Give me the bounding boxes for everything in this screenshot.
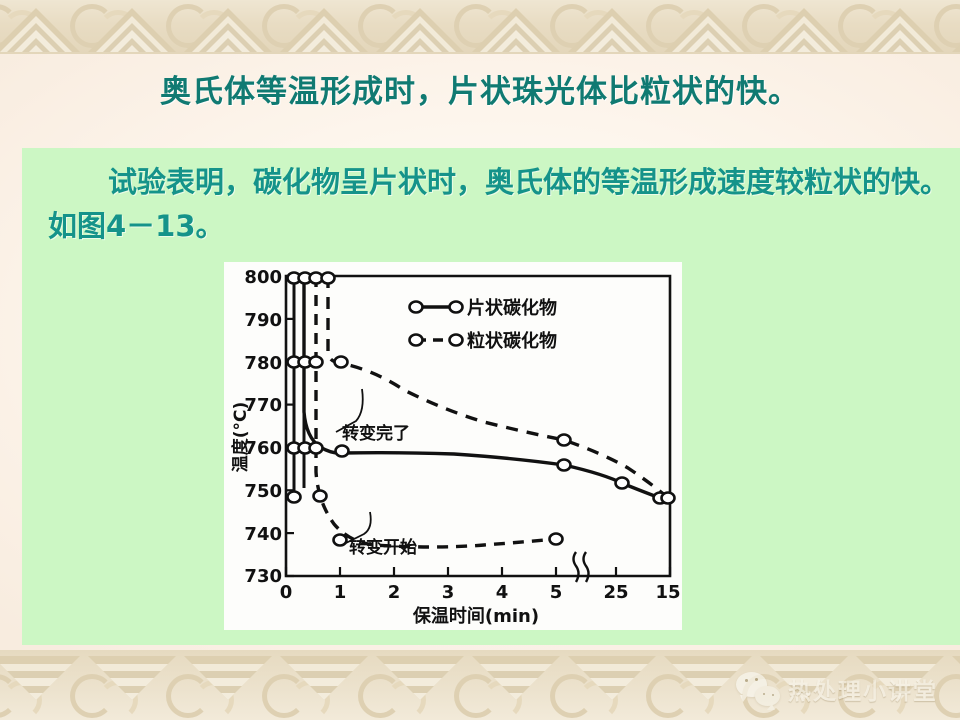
wechat-icon — [736, 672, 780, 706]
watermark: 热处理小讲堂 — [736, 672, 938, 706]
border-triangle-row — [0, 0, 960, 54]
svg-text:790: 790 — [244, 310, 282, 331]
x-axis-break — [574, 552, 589, 582]
svg-text:3: 3 — [442, 582, 455, 603]
chart-svg: 800 790 780 770 760 750 740 730 温度(°C) — [224, 262, 682, 630]
legend-item-lamellar: 片状碳化物 — [410, 297, 558, 319]
chart-legend: 片状碳化物 粒状碳化物 — [410, 297, 558, 352]
svg-text:800: 800 — [244, 267, 282, 288]
body-paragraph: 试验表明，碳化物呈片状时，奥氏体的等温形成速度较粒状的快。如图4－13。 — [48, 160, 952, 248]
chart-annotations: 转变完了 转变开始 — [342, 423, 417, 558]
decorative-border-top — [0, 0, 960, 54]
annotation-transform-finish: 转变完了 — [342, 423, 410, 444]
x-axis-tick-labels: 0 1 2 3 4 5 25 15 — [280, 582, 681, 603]
slide-root: 奥氏体等温形成时，片状珠光体比粒状的快。 试验表明，碳化物呈片状时，奥氏体的等温… — [0, 0, 960, 720]
svg-text:740: 740 — [244, 524, 282, 545]
content-panel: 试验表明，碳化物呈片状时，奥氏体的等温形成速度较粒状的快。如图4－13。 — [22, 148, 960, 645]
svg-text:片状碳化物: 片状碳化物 — [467, 297, 557, 319]
y-axis-title: 温度(°C) — [230, 402, 251, 473]
page-title: 奥氏体等温形成时，片状珠光体比粒状的快。 — [0, 66, 960, 111]
annotation-leaders — [336, 389, 371, 544]
svg-text:15: 15 — [655, 582, 680, 603]
svg-text:0: 0 — [280, 582, 293, 603]
svg-text:2: 2 — [388, 582, 401, 603]
svg-text:730: 730 — [244, 566, 282, 587]
figure-container: 800 790 780 770 760 750 740 730 温度(°C) — [224, 262, 682, 630]
svg-text:粒状碳化物: 粒状碳化物 — [467, 330, 557, 352]
svg-text:1: 1 — [334, 582, 347, 603]
x-axis-title: 保温时间(min) — [412, 605, 539, 627]
svg-text:780: 780 — [244, 353, 282, 374]
svg-text:5: 5 — [550, 582, 563, 603]
watermark-text: 热处理小讲堂 — [788, 672, 938, 706]
svg-text:750: 750 — [244, 481, 282, 502]
x-axis-ticks — [286, 567, 670, 576]
annotation-transform-start: 转变开始 — [349, 537, 417, 558]
legend-item-granular: 粒状碳化物 — [410, 330, 558, 352]
svg-text:25: 25 — [603, 582, 628, 603]
isothermal-transformation-chart: 800 790 780 770 760 750 740 730 温度(°C) — [224, 262, 682, 630]
svg-text:4: 4 — [496, 582, 509, 603]
